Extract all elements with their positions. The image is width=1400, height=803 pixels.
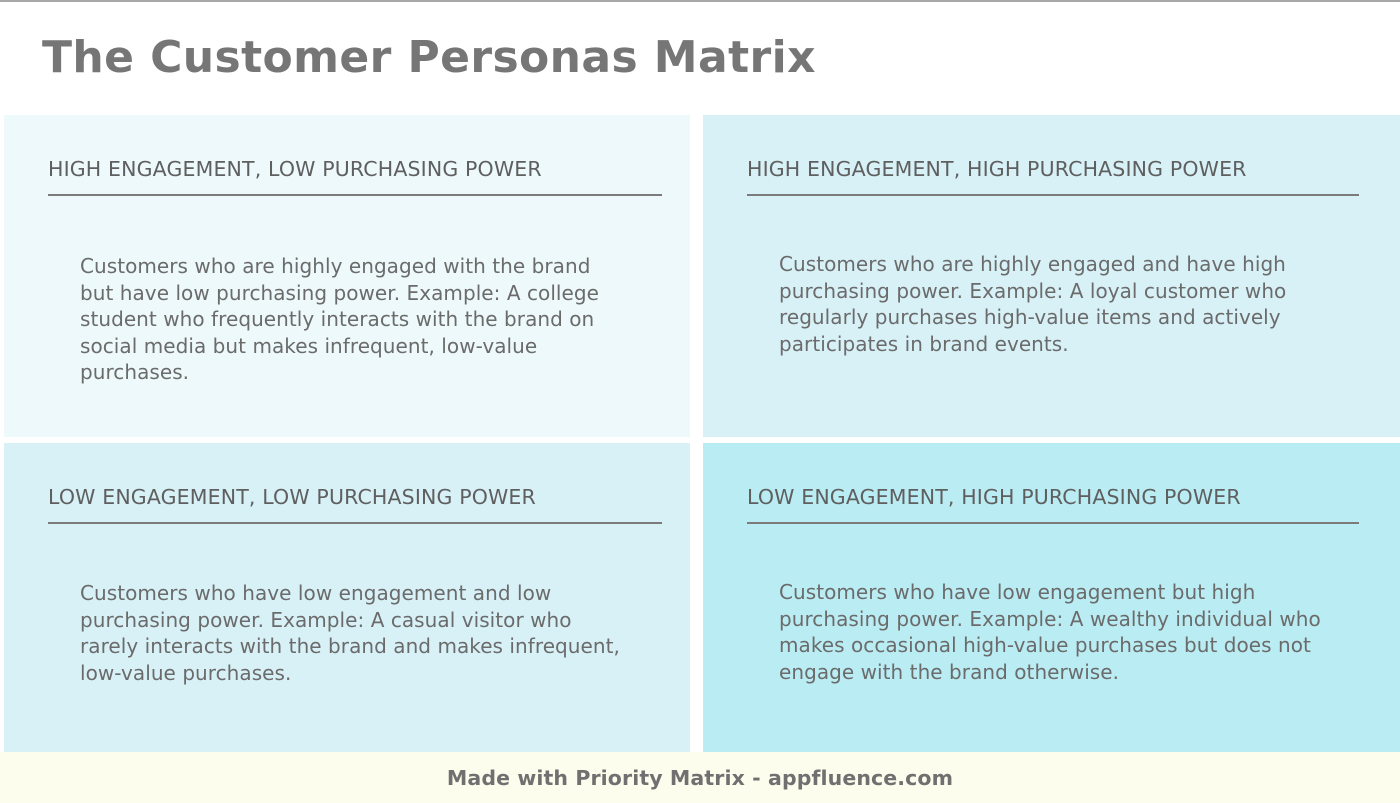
quadrant-content: HIGH ENGAGEMENT, HIGH PURCHASING POWER C… [703,115,1400,437]
page-header: The Customer Personas Matrix [0,2,1400,115]
quadrant-description: Customers who have low engagement but hi… [747,579,1337,685]
quadrant-high-engagement-low-purchasing-power[interactable]: HIGH ENGAGEMENT, LOW PURCHASING POWER Cu… [0,115,698,441]
quadrant-title: HIGH ENGAGEMENT, HIGH PURCHASING POWER [747,157,1359,196]
quadrant-low-engagement-low-purchasing-power[interactable]: LOW ENGAGEMENT, LOW PURCHASING POWER Cus… [0,441,698,752]
page-title: The Customer Personas Matrix [42,34,816,82]
quadrant-high-engagement-high-purchasing-power[interactable]: HIGH ENGAGEMENT, HIGH PURCHASING POWER C… [698,115,1400,441]
quadrant-low-engagement-high-purchasing-power[interactable]: LOW ENGAGEMENT, HIGH PURCHASING POWER Cu… [698,441,1400,752]
quadrant-description: Customers who are highly engaged and hav… [747,251,1317,357]
quadrant-title: LOW ENGAGEMENT, HIGH PURCHASING POWER [747,485,1359,524]
quadrant-title: HIGH ENGAGEMENT, LOW PURCHASING POWER [48,157,662,196]
quadrant-content: LOW ENGAGEMENT, HIGH PURCHASING POWER Cu… [703,443,1400,752]
personas-matrix: HIGH ENGAGEMENT, LOW PURCHASING POWER Cu… [0,115,1400,752]
quadrant-content: HIGH ENGAGEMENT, LOW PURCHASING POWER Cu… [4,115,690,437]
footer-attribution[interactable]: Made with Priority Matrix - appfluence.c… [447,766,953,790]
quadrant-description: Customers who have low engagement and lo… [48,580,626,686]
page-footer: Made with Priority Matrix - appfluence.c… [0,752,1400,803]
quadrant-content: LOW ENGAGEMENT, LOW PURCHASING POWER Cus… [4,443,690,752]
matrix-page: The Customer Personas Matrix HIGH ENGAGE… [0,0,1400,803]
quadrant-title: LOW ENGAGEMENT, LOW PURCHASING POWER [48,485,662,524]
quadrant-description: Customers who are highly engaged with th… [48,253,628,386]
